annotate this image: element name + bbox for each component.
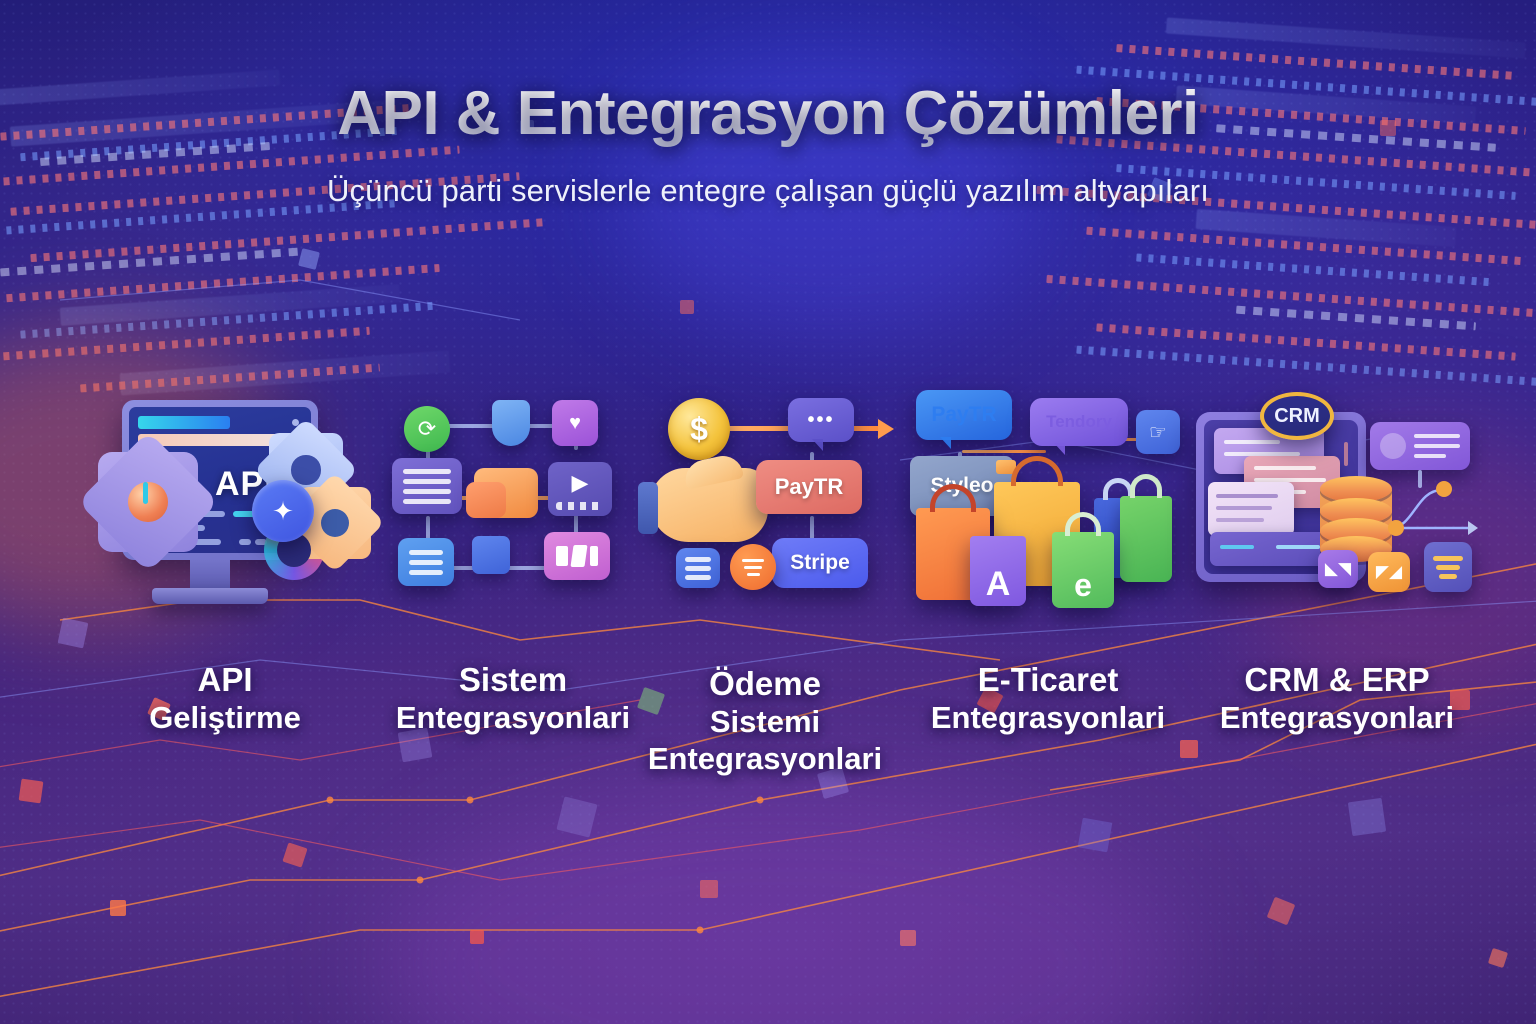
magnifier-icon: ✦ (252, 480, 314, 542)
dollar-coin-icon: $ (668, 398, 730, 460)
illustration-odeme-sistemi[interactable]: $ ••• PayTR Stripe (660, 398, 900, 603)
bag-letter: e (1074, 567, 1092, 608)
illustration-row: API (0, 382, 1536, 642)
sleeve-cuff (638, 482, 658, 534)
illustration-api-gelistirme[interactable]: API (112, 400, 362, 640)
shopping-bag-letter-a: A (970, 536, 1026, 606)
secondary-gear-icon (308, 496, 362, 550)
list-tile-icon (392, 458, 462, 514)
illustration-crm-erp[interactable]: CRM (1192, 392, 1482, 607)
badge-tendory-label: Tendory (1046, 412, 1112, 432)
caption-sistem-entegrasyonlari: Sistem Entegrasyonlari (368, 661, 658, 737)
illustration-sistem-entegrasyonlari[interactable]: ⟳ ♥ ▶ (388, 400, 618, 600)
badge-paytr-label: PayTR (775, 474, 843, 500)
contact-card-icon (1370, 422, 1470, 470)
caption-row: API Geliştirme Sistem Entegrasyonlari Öd… (0, 645, 1536, 825)
flow-node-icon (1386, 476, 1478, 540)
badge-paytr-ecom-label: PayTR (931, 403, 996, 427)
shopping-bag-icon (1120, 496, 1172, 582)
analytics-tile-icon: ◤◢ (1368, 552, 1410, 592)
poster-header: API & Entegrasyon Çözümleri Üçüncü parti… (0, 0, 1536, 209)
hand-icon (650, 468, 768, 542)
badge-tendory[interactable]: Tendory (1030, 398, 1128, 446)
waveform-icon (556, 502, 604, 510)
page-subtitle: Üçüncü parti servislerle entegre çalışan… (0, 173, 1536, 209)
badge-stripe[interactable]: Stripe (772, 538, 868, 588)
spotify-icon (730, 544, 776, 590)
caption-crm-erp: CRM & ERP Entegrasyonlari (1192, 661, 1482, 737)
node-link-icon (472, 536, 510, 574)
cursor-click-icon: ☞ (1136, 410, 1180, 454)
badge-crm[interactable]: CRM (1260, 392, 1334, 440)
monitor-base (152, 588, 268, 604)
heart-icon: ♥ (552, 400, 598, 446)
document-icon (1424, 542, 1472, 592)
illustration-e-ticaret[interactable]: PayTR Tendory ☞ Styleo (908, 390, 1178, 615)
ui-card (1208, 482, 1294, 536)
caption-odeme-sistemi: Ödeme Sistemi Entegrasyonlari (620, 665, 910, 777)
caption-e-ticaret: E-Ticaret Entegrasyonlari (898, 661, 1198, 737)
menu-tile-icon (398, 538, 454, 586)
sliders-icon (676, 548, 720, 588)
badge-paytr[interactable]: PayTR (756, 460, 862, 514)
gear-icon (110, 464, 186, 540)
bag-letter: A (986, 565, 1011, 606)
badge-crm-label: CRM (1274, 405, 1320, 428)
chat-bubble-icon: ••• (788, 398, 854, 442)
chart-tile-icon: ◣◥ (1318, 550, 1358, 588)
monitor-neck (190, 560, 230, 590)
badge-paytr-ecom[interactable]: PayTR (916, 390, 1012, 440)
badge-stripe-label: Stripe (790, 551, 850, 575)
sync-icon: ⟳ (404, 406, 450, 452)
shopping-bag-letter-e: e (1052, 532, 1114, 608)
page-title: API & Entegrasyon Çözümleri (0, 78, 1536, 149)
arrow-right-icon (878, 419, 894, 439)
media-icon (544, 532, 610, 580)
folder-front-icon (466, 482, 506, 518)
caption-api-gelistirme: API Geliştirme (90, 661, 360, 737)
poster-canvas: API & Entegrasyon Çözümleri Üçüncü parti… (0, 0, 1536, 1024)
window-titlebar (138, 416, 230, 429)
database-icon (1320, 476, 1392, 552)
shield-icon (492, 400, 530, 446)
